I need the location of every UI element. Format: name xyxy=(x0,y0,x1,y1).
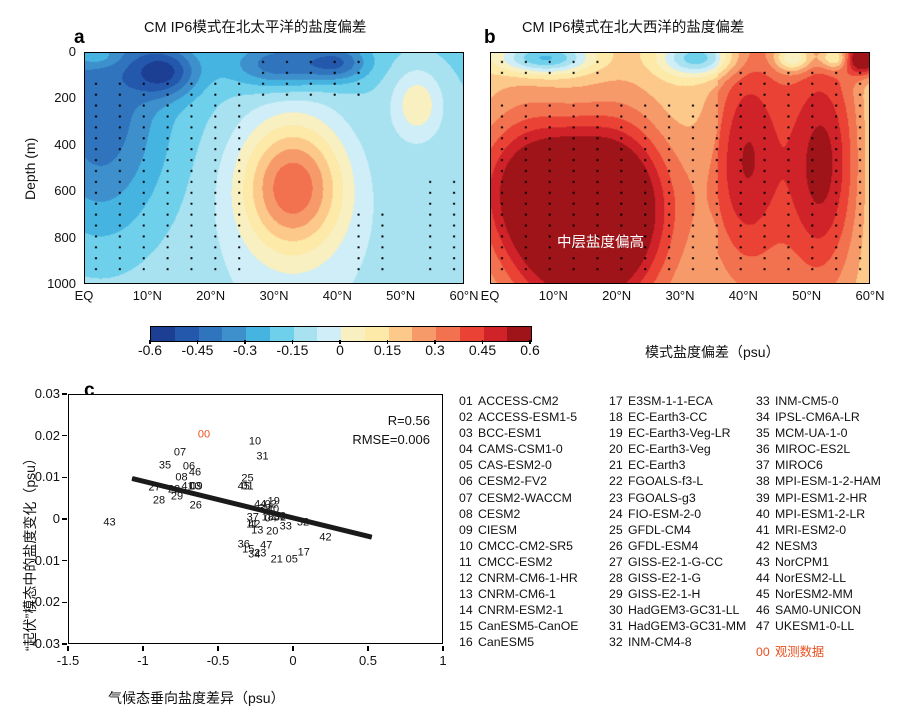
axis-tickmark xyxy=(62,602,67,604)
legend-item-number: 04 xyxy=(459,441,478,457)
legend-item-number: 13 xyxy=(459,586,478,602)
legend-item-number: 12 xyxy=(459,570,478,586)
scatter-label-model: 35 xyxy=(159,460,171,471)
legend-item: 15CanESM5-CanOE xyxy=(459,618,609,634)
legend-spacer xyxy=(756,634,899,644)
legend-item: 46SAM0-UNICON xyxy=(756,602,899,618)
legend-item-number: 38 xyxy=(756,473,775,489)
legend-item-number: 32 xyxy=(609,634,628,650)
legend-item: 29GISS-E2-1-H xyxy=(609,586,759,602)
axis-tick-label: 30°N xyxy=(244,288,304,303)
legend-item: 17E3SM-1-1-ECA xyxy=(609,393,759,409)
axis-tick-label: 10°N xyxy=(523,288,583,303)
colorbar-tick-label: 0.45 xyxy=(469,342,496,358)
legend-item-label: HadGEM3-GC31-LL xyxy=(628,603,739,617)
colorbar-tick-label: 0.15 xyxy=(374,342,401,358)
legend-item: 03BCC-ESM1 xyxy=(459,425,609,441)
legend-item-label: NorESM2-LL xyxy=(775,571,846,585)
legend-item-label: NorCPM1 xyxy=(775,555,829,569)
stat-r: R=0.56 xyxy=(388,413,430,428)
legend-item-label: MPI-ESM1-2-LR xyxy=(775,507,865,521)
legend-item-number: 11 xyxy=(459,554,478,570)
axis-tickmark xyxy=(62,518,67,520)
legend-item-number: 22 xyxy=(609,473,628,489)
legend-item-number: 10 xyxy=(459,538,478,554)
legend-item-label: INM-CM5-0 xyxy=(775,394,839,408)
legend-item: 05CAS-ESM2-0 xyxy=(459,457,609,473)
axis-tick-label: 10°N xyxy=(117,288,177,303)
legend-item-label: EC-Earth3-Veg xyxy=(628,442,711,456)
legend-item-label: CESM2-FV2 xyxy=(478,474,547,488)
colorbar-tick-label: -0.3 xyxy=(233,342,257,358)
legend-item: 07CESM2-WACCM xyxy=(459,490,609,506)
axis-tickmark xyxy=(62,643,67,645)
panel-b-salinity-field xyxy=(491,53,869,283)
axis-tick-label: -0.5 xyxy=(188,653,248,668)
scatter-plot: 0007103135064608252722410903450128292644… xyxy=(68,394,443,644)
legend-item-number: 39 xyxy=(756,490,775,506)
panel-a-xaxis: EQ10°N20°N30°N40°N50°N60°N xyxy=(84,286,464,310)
legend-item-number: 02 xyxy=(459,409,478,425)
axis-tick-label: 800 xyxy=(34,230,76,245)
model-legend-column-2: 17E3SM-1-1-ECA18EC-Earth3-CC19EC-Earth3-… xyxy=(609,393,759,651)
stat-rmse: RMSE=0.006 xyxy=(352,432,430,447)
legend-item-number: 28 xyxy=(609,570,628,586)
colorbar-caption: 模式盐度偏差（psu） xyxy=(645,342,780,362)
panel-c-xaxis: -1.5-1-0.500.51 xyxy=(68,646,443,672)
legend-item: 28GISS-E2-1-G xyxy=(609,570,759,586)
legend-item-number: 25 xyxy=(609,522,628,538)
legend-item: 02ACCESS-ESM1-5 xyxy=(459,409,609,425)
legend-item-number: 37 xyxy=(756,457,775,473)
legend-item-label: GFDL-CM4 xyxy=(628,523,691,537)
scatter-label-model: 01 xyxy=(241,482,253,493)
legend-item-number: 34 xyxy=(756,409,775,425)
colorbar-tick-label: -0.15 xyxy=(277,342,309,358)
axis-tickmark xyxy=(217,646,219,651)
axis-tick-label: 0.01 xyxy=(10,469,60,484)
legend-item-number: 30 xyxy=(609,602,628,618)
legend-item-label: CAMS-CSM1-0 xyxy=(478,442,563,456)
legend-item-label: MIROC6 xyxy=(775,458,823,472)
panel-c: c “起伏”模态中的盐度变化（psu） 气候态垂向盐度差异（psu） 00071… xyxy=(0,366,460,720)
scatter-label-observation: 00 xyxy=(198,430,210,441)
legend-item: 16CanESM5 xyxy=(459,634,609,650)
legend-item-label: E3SM-1-1-ECA xyxy=(628,394,713,408)
legend-item: 36MIROC-ES2L xyxy=(756,441,899,457)
axis-tick-label: 200 xyxy=(34,90,76,105)
axis-tick-label: 0.03 xyxy=(10,386,60,401)
legend-item-label: NorESM2-MM xyxy=(775,587,853,601)
legend-item: 39MPI-ESM1-2-HR xyxy=(756,490,899,506)
legend-item-label: EC-Earth3 xyxy=(628,458,685,472)
colorbar-tickmark xyxy=(434,340,435,344)
legend-item: 43NorCPM1 xyxy=(756,554,899,570)
legend-item: 42NESM3 xyxy=(756,538,899,554)
scatter-label-model: 10 xyxy=(249,437,261,448)
panel-c-yaxis: 0.030.020.010-0.01-0.02-0.03 xyxy=(10,394,66,644)
colorbar-tick-label: -0.6 xyxy=(138,342,162,358)
legend-item: 22FGOALS-f3-L xyxy=(609,473,759,489)
legend-item-number: 31 xyxy=(609,618,628,634)
legend-item: 34IPSL-CM6A-LR xyxy=(756,409,899,425)
legend-item: 06CESM2-FV2 xyxy=(459,473,609,489)
legend-item-label: MCM-UA-1-0 xyxy=(775,426,847,440)
legend-item: 30HadGEM3-GC31-LL xyxy=(609,602,759,618)
legend-item-number: 15 xyxy=(459,618,478,634)
axis-tick-label: 400 xyxy=(34,137,76,152)
legend-item-label: 观测数据 xyxy=(775,645,824,659)
axis-tick-label: -1.5 xyxy=(38,653,98,668)
colorbar-tickmark xyxy=(292,340,293,344)
legend-item-number: 09 xyxy=(459,522,478,538)
legend-item: 11CMCC-ESM2 xyxy=(459,554,609,570)
legend-item-label: GISS-E2-1-G-CC xyxy=(628,555,723,569)
legend-item-label: CMCC-ESM2 xyxy=(478,555,552,569)
legend-item-label: CanESM5-CanOE xyxy=(478,619,578,633)
scatter-label-model: 21 xyxy=(271,555,283,566)
legend-item: 44NorESM2-LL xyxy=(756,570,899,586)
panel-a-yaxis: 02004006008001000 xyxy=(34,52,80,284)
legend-item: 14CNRM-ESM2-1 xyxy=(459,602,609,618)
panel-b: b CM IP6模式在北大西洋的盐度偏差 中层盐度偏高 xyxy=(470,0,899,320)
axis-tick-label: 600 xyxy=(34,183,76,198)
legend-item-number: 06 xyxy=(459,473,478,489)
scatter-label-model: 28 xyxy=(153,495,165,506)
axis-tick-label: -0.03 xyxy=(10,636,60,651)
legend-item: 13CNRM-CM6-1 xyxy=(459,586,609,602)
axis-tickmark xyxy=(292,646,294,651)
axis-tickmark xyxy=(367,646,369,651)
axis-tick-label: -1 xyxy=(113,653,173,668)
axis-tick-label: -0.01 xyxy=(10,553,60,568)
legend-item: 10CMCC-CM2-SR5 xyxy=(459,538,609,554)
legend-item-label: NESM3 xyxy=(775,539,817,553)
scatter-label-model: 23 xyxy=(254,549,266,560)
legend-item-label: ACCESS-CM2 xyxy=(478,394,559,408)
legend-item-number: 23 xyxy=(609,490,628,506)
legend-item-label: GISS-E2-1-H xyxy=(628,587,700,601)
colorbar-tickmark xyxy=(482,340,483,344)
legend-item: 47UKESM1-0-LL xyxy=(756,618,899,634)
axis-tick-label: EQ xyxy=(460,288,520,303)
legend-item: 19EC-Earth3-Veg-LR xyxy=(609,425,759,441)
legend-item-label: ACCESS-ESM1-5 xyxy=(478,410,577,424)
legend-item-number: 45 xyxy=(756,586,775,602)
axis-tick-label: 50°N xyxy=(371,288,431,303)
legend-item-label: INM-CM4-8 xyxy=(628,635,692,649)
legend-item-number: 14 xyxy=(459,602,478,618)
axis-tick-label: 20°N xyxy=(587,288,647,303)
legend-item-label: CNRM-CM6-1-HR xyxy=(478,571,578,585)
legend-item: 09CIESM xyxy=(459,522,609,538)
legend-item: 21EC-Earth3 xyxy=(609,457,759,473)
colorbar-tickmark xyxy=(387,340,388,344)
legend-item-number: 03 xyxy=(459,425,478,441)
scatter-label-model: 46 xyxy=(189,467,201,478)
legend-item-label: MPI-ESM-1-2-HAM xyxy=(775,474,881,488)
axis-tick-label: -0.02 xyxy=(10,594,60,609)
colorbar-tick-label: 0.6 xyxy=(520,342,539,358)
scatter-label-model: 33 xyxy=(280,521,292,532)
legend-item-number: 20 xyxy=(609,441,628,457)
legend-item: 38MPI-ESM-1-2-HAM xyxy=(756,473,899,489)
legend-item-label: CESM2 xyxy=(478,507,520,521)
legend-item: 45NorESM2-MM xyxy=(756,586,899,602)
legend-item-number: 26 xyxy=(609,538,628,554)
legend-item: 26GFDL-ESM4 xyxy=(609,538,759,554)
legend-item: 20EC-Earth3-Veg xyxy=(609,441,759,457)
legend-item: 01ACCESS-CM2 xyxy=(459,393,609,409)
legend-item: 33INM-CM5-0 xyxy=(756,393,899,409)
legend-item-label: GFDL-ESM4 xyxy=(628,539,698,553)
panel-b-letter: b xyxy=(484,27,496,49)
legend-item: 08CESM2 xyxy=(459,506,609,522)
legend-item: 24FIO-ESM-2-0 xyxy=(609,506,759,522)
scatter-label-model: 43 xyxy=(103,518,115,529)
legend-item: 23FGOALS-g3 xyxy=(609,490,759,506)
axis-tickmark xyxy=(67,646,69,651)
colorbar-tickmark xyxy=(244,340,245,344)
scatter-label-model: 05 xyxy=(286,555,298,566)
legend-item: 25GFDL-CM4 xyxy=(609,522,759,538)
scatter-label-model: 20 xyxy=(266,526,278,537)
panel-b-plot: 中层盐度偏高 xyxy=(490,52,870,284)
legend-observation-note: 00观测数据 xyxy=(756,644,899,660)
legend-item-number: 35 xyxy=(756,425,775,441)
legend-item-number: 00 xyxy=(756,644,775,660)
legend-item-label: MIROC-ES2L xyxy=(775,442,850,456)
axis-tickmark xyxy=(62,393,67,395)
scatter-label-model: 17 xyxy=(298,548,310,559)
axis-tickmark xyxy=(442,646,444,651)
scatter-label-model: 26 xyxy=(190,501,202,512)
axis-tick-label: 40°N xyxy=(713,288,773,303)
axis-tick-label: 1000 xyxy=(34,276,76,291)
legend-item-number: 46 xyxy=(756,602,775,618)
legend-item-number: 41 xyxy=(756,522,775,538)
legend-item-number: 29 xyxy=(609,586,628,602)
legend-item-label: HadGEM3-GC31-MM xyxy=(628,619,746,633)
legend-item-label: FGOALS-f3-L xyxy=(628,474,703,488)
legend-item-number: 40 xyxy=(756,506,775,522)
legend-item-number: 44 xyxy=(756,570,775,586)
axis-tick-label: 50°N xyxy=(777,288,837,303)
axis-tick-label: 0 xyxy=(34,44,76,59)
legend-item: 27GISS-E2-1-G-CC xyxy=(609,554,759,570)
colorbar-tick-label: 0 xyxy=(336,342,344,358)
legend-item: 40MPI-ESM1-2-LR xyxy=(756,506,899,522)
axis-tick-label: 0.02 xyxy=(10,428,60,443)
legend-item-label: MRI-ESM2-0 xyxy=(775,523,846,537)
panel-a-salinity-field xyxy=(85,53,463,283)
panel-b-xaxis: EQ10°N20°N30°N40°N50°N60°N xyxy=(490,286,870,310)
legend-item-number: 18 xyxy=(609,409,628,425)
scatter-label-model: 42 xyxy=(319,533,331,544)
legend-item-label: CESM2-WACCM xyxy=(478,491,572,505)
legend-item-number: 47 xyxy=(756,618,775,634)
colorbar: -0.6-0.45-0.3-0.1500.150.30.450.6 模式盐度偏差… xyxy=(0,320,899,366)
scatter-label-model: 31 xyxy=(256,451,268,462)
legend-item-label: FIO-ESM-2-0 xyxy=(628,507,701,521)
legend-item-label: IPSL-CM6A-LR xyxy=(775,410,860,424)
panel-a-title: CM IP6模式在北太平洋的盐度偏差 xyxy=(144,16,366,37)
legend-item-label: EC-Earth3-Veg-LR xyxy=(628,426,731,440)
axis-tick-label: 0 xyxy=(10,511,60,526)
legend-item: 04CAMS-CSM1-0 xyxy=(459,441,609,457)
axis-tickmark xyxy=(62,477,67,479)
legend-item-label: CMCC-CM2-SR5 xyxy=(478,539,573,553)
legend-item-label: MPI-ESM1-2-HR xyxy=(775,491,867,505)
axis-tick-label: 1 xyxy=(413,653,473,668)
legend-item-label: GISS-E2-1-G xyxy=(628,571,701,585)
axis-tick-label: 30°N xyxy=(650,288,710,303)
colorbar-tick-label: -0.45 xyxy=(182,342,214,358)
model-legend-column-3: 33INM-CM5-034IPSL-CM6A-LR35MCM-UA-1-036M… xyxy=(756,393,899,661)
legend-item: 37MIROC6 xyxy=(756,457,899,473)
legend-item: 31HadGEM3-GC31-MM xyxy=(609,618,759,634)
legend-item: 35MCM-UA-1-0 xyxy=(756,425,899,441)
legend-item-number: 08 xyxy=(459,506,478,522)
legend-item-label: BCC-ESM1 xyxy=(478,426,542,440)
legend-item-number: 36 xyxy=(756,441,775,457)
axis-tick-label: 0 xyxy=(263,653,323,668)
panel-b-annotation: 中层盐度偏高 xyxy=(557,231,644,252)
axis-tick-label: 20°N xyxy=(181,288,241,303)
legend-item-number: 43 xyxy=(756,554,775,570)
colorbar-tick-label: 0.3 xyxy=(425,342,444,358)
axis-tick-label: 0.5 xyxy=(338,653,398,668)
axis-tick-label: 60°N xyxy=(840,288,899,303)
scatter-label-model: 13 xyxy=(251,526,263,537)
legend-item-label: CNRM-ESM2-1 xyxy=(478,603,563,617)
legend-item-number: 05 xyxy=(459,457,478,473)
legend-item-number: 01 xyxy=(459,393,478,409)
legend-item-label: EC-Earth3-CC xyxy=(628,410,707,424)
panel-a-plot xyxy=(84,52,464,284)
legend-item-number: 17 xyxy=(609,393,628,409)
legend-item-number: 19 xyxy=(609,425,628,441)
colorbar-tickmark xyxy=(339,340,340,344)
legend-item-label: CNRM-CM6-1 xyxy=(478,587,556,601)
legend-item-number: 27 xyxy=(609,554,628,570)
colorbar-tickmark xyxy=(197,340,198,344)
legend-item-label: CIESM xyxy=(478,523,517,537)
legend-item-label: SAM0-UNICON xyxy=(775,603,861,617)
axis-tick-label: 40°N xyxy=(307,288,367,303)
axis-tickmark xyxy=(62,560,67,562)
legend-item-label: FGOALS-g3 xyxy=(628,491,696,505)
panel-b-title: CM IP6模式在北大西洋的盐度偏差 xyxy=(522,16,744,37)
legend-item-number: 42 xyxy=(756,538,775,554)
legend-item-number: 16 xyxy=(459,634,478,650)
legend-item-label: CAS-ESM2-0 xyxy=(478,458,552,472)
panel-c-xlabel: 气候态垂向盐度差异（psu） xyxy=(108,688,285,708)
legend-item-number: 24 xyxy=(609,506,628,522)
legend-item: 41MRI-ESM2-0 xyxy=(756,522,899,538)
axis-tickmark xyxy=(142,646,144,651)
legend-item: 32INM-CM4-8 xyxy=(609,634,759,650)
scatter-label-model: 07 xyxy=(174,447,186,458)
legend-item: 18EC-Earth3-CC xyxy=(609,409,759,425)
legend-item: 12CNRM-CM6-1-HR xyxy=(459,570,609,586)
legend-item-number: 07 xyxy=(459,490,478,506)
legend-item-number: 21 xyxy=(609,457,628,473)
legend-item-label: UKESM1-0-LL xyxy=(775,619,854,633)
colorbar-tickmark xyxy=(529,340,530,344)
model-legend-column-1: 01ACCESS-CM202ACCESS-ESM1-503BCC-ESM104C… xyxy=(459,393,609,651)
axis-tickmark xyxy=(62,435,67,437)
legend-item-number: 33 xyxy=(756,393,775,409)
legend-item-label: CanESM5 xyxy=(478,635,534,649)
colorbar-tickmark xyxy=(149,340,150,344)
